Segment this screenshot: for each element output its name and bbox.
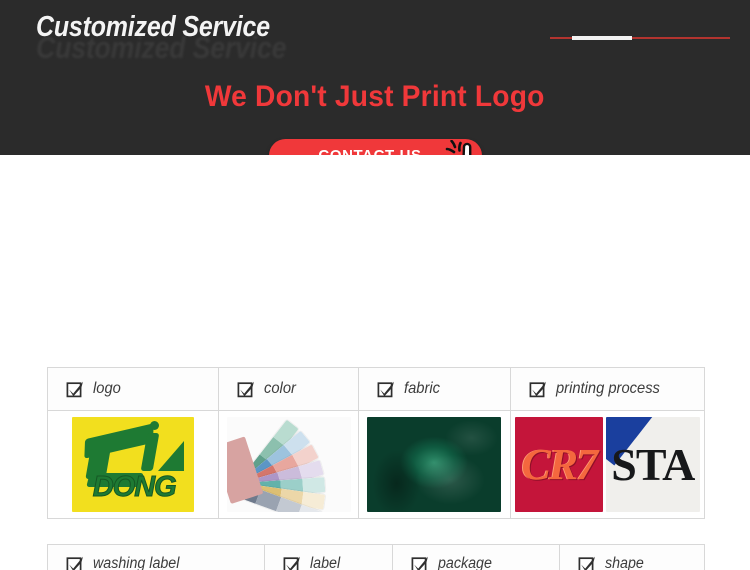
spec-column-washing-label[interactable]: washing label CRAFT bbox=[48, 545, 265, 570]
spec-column-logo[interactable]: logo DONG bbox=[48, 368, 219, 518]
spec-column-header: fabric bbox=[359, 368, 510, 411]
spec-column-label: color bbox=[264, 380, 296, 398]
spec-column-body: DONG bbox=[48, 411, 218, 518]
thumb-color-fan-deck[interactable] bbox=[227, 417, 351, 512]
spec-column-label-item[interactable]: label bbox=[265, 545, 393, 570]
spec-column-header: color bbox=[219, 368, 358, 411]
page-title: Customized Service bbox=[36, 11, 270, 44]
hero-header: Customized Service Customized Service We… bbox=[0, 0, 750, 155]
accent-rule-white bbox=[572, 36, 632, 40]
spec-column-header: printing process bbox=[511, 368, 704, 411]
spec-column-color[interactable]: color bbox=[219, 368, 359, 518]
spec-column-shape[interactable]: shape bbox=[560, 545, 704, 570]
hero-headline-text: We Don't Just Print Logo bbox=[205, 80, 545, 114]
spec-row-1: logo DONG bbox=[47, 367, 705, 519]
spec-column-package[interactable]: package LIDONG bbox=[393, 545, 560, 570]
spec-column-header: washing label bbox=[48, 545, 264, 570]
hero-headline: We Don't Just Print Logo bbox=[0, 80, 750, 114]
checked-checkbox-icon bbox=[377, 380, 395, 398]
spec-column-label: shape bbox=[605, 555, 644, 570]
spec-column-label: logo bbox=[93, 380, 121, 398]
thumb-flock-print-letters[interactable]: STA bbox=[606, 417, 700, 512]
checked-checkbox-icon bbox=[529, 380, 547, 398]
spec-column-header: logo bbox=[48, 368, 218, 411]
spec-column-printing-process[interactable]: printing process CR7 STA bbox=[511, 368, 704, 518]
spec-column-header: label bbox=[265, 545, 392, 570]
spec-column-header: shape bbox=[560, 545, 704, 570]
spec-column-label: washing label bbox=[93, 555, 179, 570]
checked-checkbox-icon bbox=[66, 380, 84, 398]
thumb-chenille-embroidery[interactable]: CR7 bbox=[515, 417, 603, 512]
spec-row-2: washing label CRAFT bbox=[47, 544, 705, 570]
customized-service-page: Customized Service Customized Service We… bbox=[0, 0, 750, 570]
spec-column-header: package bbox=[393, 545, 559, 570]
thumb-logo-wordmark: DONG bbox=[74, 471, 194, 504]
spec-column-label: package bbox=[438, 555, 492, 570]
spec-column-body: CR7 STA bbox=[511, 411, 704, 518]
thumb-cr7-text: CR7 bbox=[521, 439, 596, 490]
thumb-green-fleece-fabric[interactable] bbox=[367, 417, 501, 512]
thumb-sta-text: STA bbox=[611, 438, 694, 491]
spec-column-label: printing process bbox=[556, 380, 660, 398]
spec-column-label: fabric bbox=[404, 380, 440, 398]
checked-checkbox-icon bbox=[66, 555, 84, 570]
checked-checkbox-icon bbox=[411, 555, 429, 570]
thumb-lidong-logo[interactable]: DONG bbox=[72, 417, 194, 512]
spec-column-body bbox=[359, 411, 510, 518]
spec-column-body bbox=[219, 411, 358, 518]
spec-column-label: label bbox=[310, 555, 340, 570]
checked-checkbox-icon bbox=[237, 380, 255, 398]
accent-rule bbox=[550, 36, 730, 40]
checked-checkbox-icon bbox=[283, 555, 301, 570]
specification-grid: logo DONG bbox=[0, 155, 750, 570]
spec-column-fabric[interactable]: fabric bbox=[359, 368, 511, 518]
checked-checkbox-icon bbox=[578, 555, 596, 570]
